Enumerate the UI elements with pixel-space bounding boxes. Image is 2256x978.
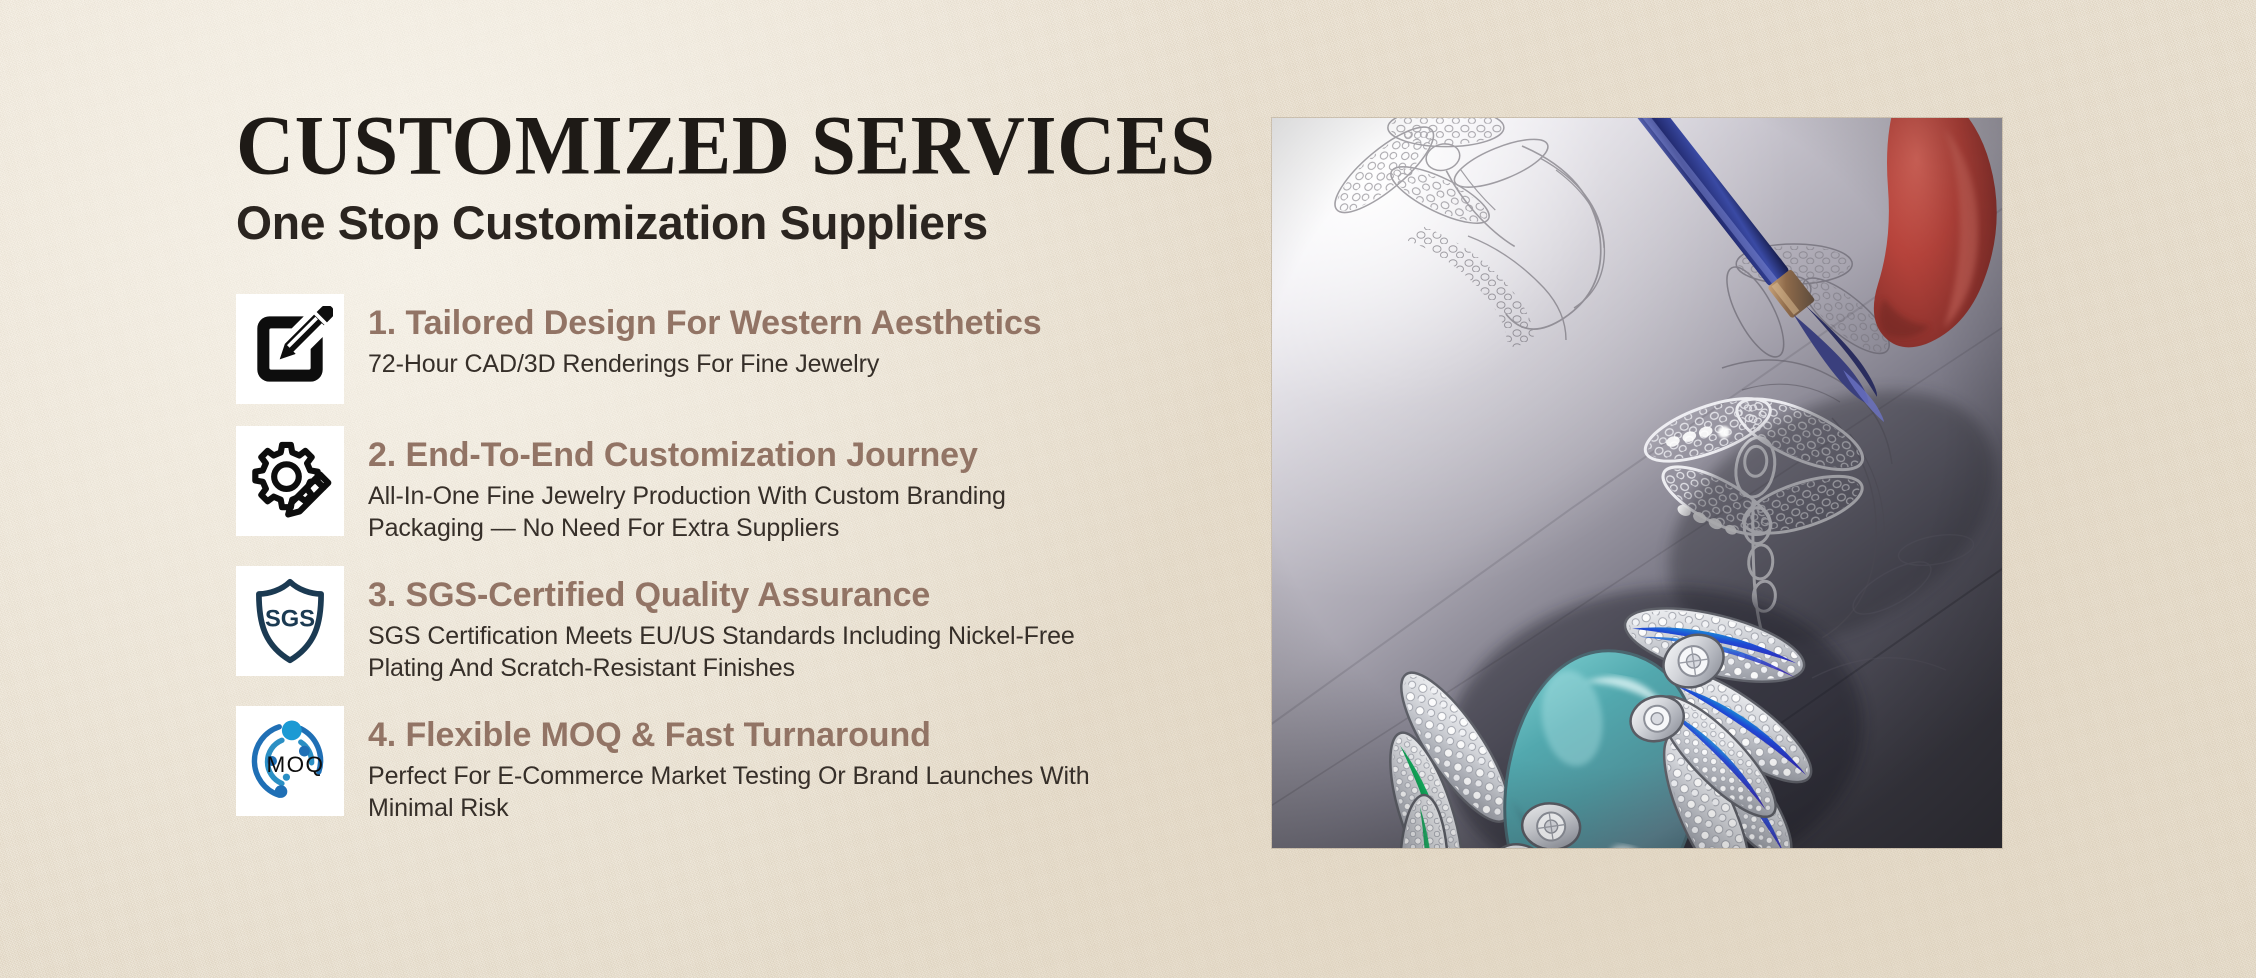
sgs-shield-icon: SGS: [249, 576, 331, 666]
feature-item: 2. End-To-End Customization Journey All-…: [236, 426, 1116, 544]
jewelry-design-illustration: [1272, 118, 2002, 848]
feature-item: MOQ 4. Flexible MOQ & Fast Turnaround Pe…: [236, 706, 1116, 824]
page-title: CUSTOMIZED SERVICES: [236, 104, 1169, 187]
feature-description: 72-Hour CAD/3D Renderings For Fine Jewel…: [368, 348, 1116, 380]
feature-title: 2. End-To-End Customization Journey: [368, 436, 1116, 474]
sgs-shield-label: SGS: [265, 607, 315, 633]
moq-orbit-label: MOQ: [267, 752, 325, 777]
moq-orbit-icon: MOQ: [245, 716, 335, 806]
content-column: CUSTOMIZED SERVICES One Stop Customizati…: [236, 104, 1116, 846]
feature-title: 3. SGS-Certified Quality Assurance: [368, 576, 1116, 614]
feature-title: 1. Tailored Design For Western Aesthetic…: [368, 304, 1116, 342]
feature-title: 4. Flexible MOQ & Fast Turnaround: [368, 716, 1116, 754]
page-subtitle: One Stop Customization Suppliers: [236, 198, 1103, 247]
feature-item: SGS 3. SGS-Certified Quality Assurance S…: [236, 566, 1116, 684]
feature-text: 3. SGS-Certified Quality Assurance SGS C…: [368, 566, 1116, 684]
feature-description: All-In-One Fine Jewelry Production With …: [368, 480, 1116, 544]
page-background: CUSTOMIZED SERVICES One Stop Customizati…: [0, 0, 2256, 978]
feature-icon-container: [236, 294, 344, 404]
gear-pencil-icon: [246, 437, 334, 525]
feature-text: 2. End-To-End Customization Journey All-…: [368, 426, 1116, 544]
edit-pencil-square-icon: [247, 306, 333, 392]
feature-icon-container: MOQ: [236, 706, 344, 816]
feature-icon-container: [236, 426, 344, 536]
jewelry-design-photo: [1272, 118, 2002, 848]
feature-description: Perfect For E-Commerce Market Testing Or…: [368, 760, 1116, 824]
feature-description: SGS Certification Meets EU/US Standards …: [368, 620, 1116, 684]
feature-item: 1. Tailored Design For Western Aesthetic…: [236, 294, 1116, 404]
feature-text: 1. Tailored Design For Western Aesthetic…: [368, 294, 1116, 380]
feature-list: 1. Tailored Design For Western Aesthetic…: [236, 294, 1116, 824]
feature-icon-container: SGS: [236, 566, 344, 676]
feature-text: 4. Flexible MOQ & Fast Turnaround Perfec…: [368, 706, 1116, 824]
